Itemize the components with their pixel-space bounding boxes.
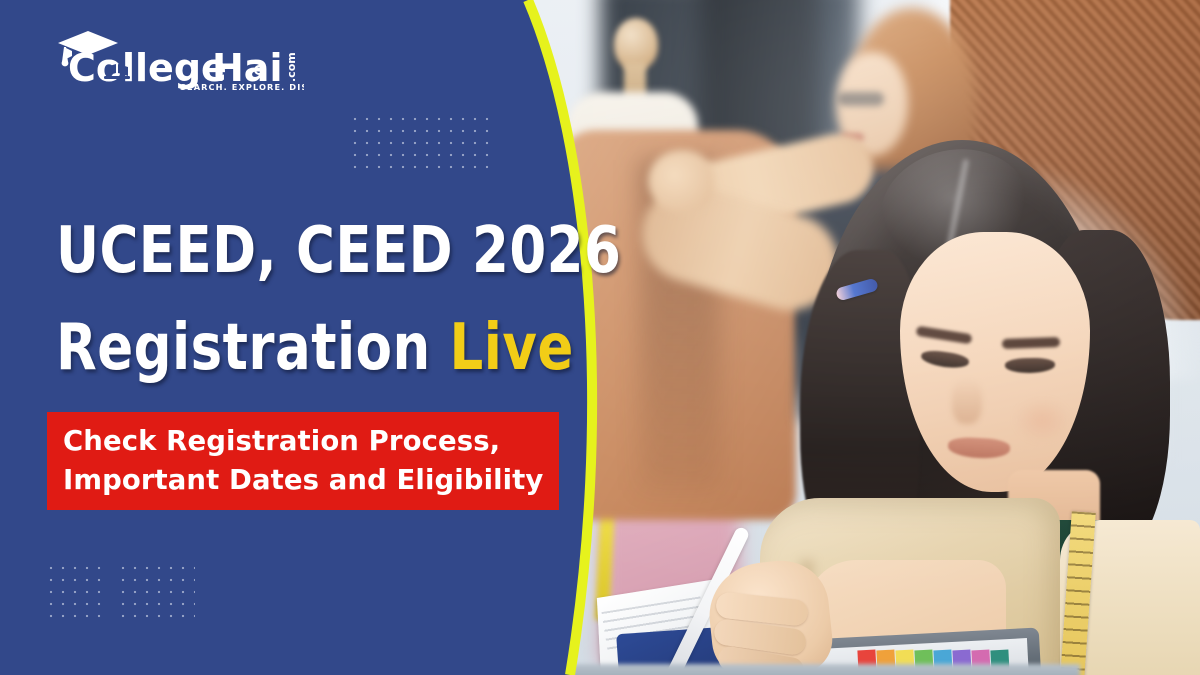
subtitle-banner: Check Registration Process, Important Da… xyxy=(47,412,559,510)
promo-banner: College Hai .com SEARCH. EXPLORE. DISCOV… xyxy=(0,0,1200,675)
dot-grid-bottom-left-b xyxy=(117,562,195,622)
logo-domain-suffix: .com xyxy=(285,52,298,82)
subtitle-line-2: Important Dates and Eligibility xyxy=(63,461,543,500)
collegehai-logo[interactable]: College Hai .com SEARCH. EXPLORE. DISCOV… xyxy=(52,26,304,92)
logo-tagline: SEARCH. EXPLORE. DISCOVER. xyxy=(180,82,304,92)
headline-live-highlight: Live xyxy=(450,311,574,385)
headline-line-2: Registration Live xyxy=(56,300,534,397)
subtitle-line-1: Check Registration Process, xyxy=(63,422,543,461)
headline-line-2-prefix: Registration xyxy=(56,311,431,385)
dot-grid-bottom-left-a xyxy=(45,562,109,622)
page-title: UCEED, CEED 2026 Registration Live xyxy=(56,203,534,397)
headline-line-1: UCEED, CEED 2026 xyxy=(56,203,534,300)
dot-grid-top xyxy=(349,113,491,170)
